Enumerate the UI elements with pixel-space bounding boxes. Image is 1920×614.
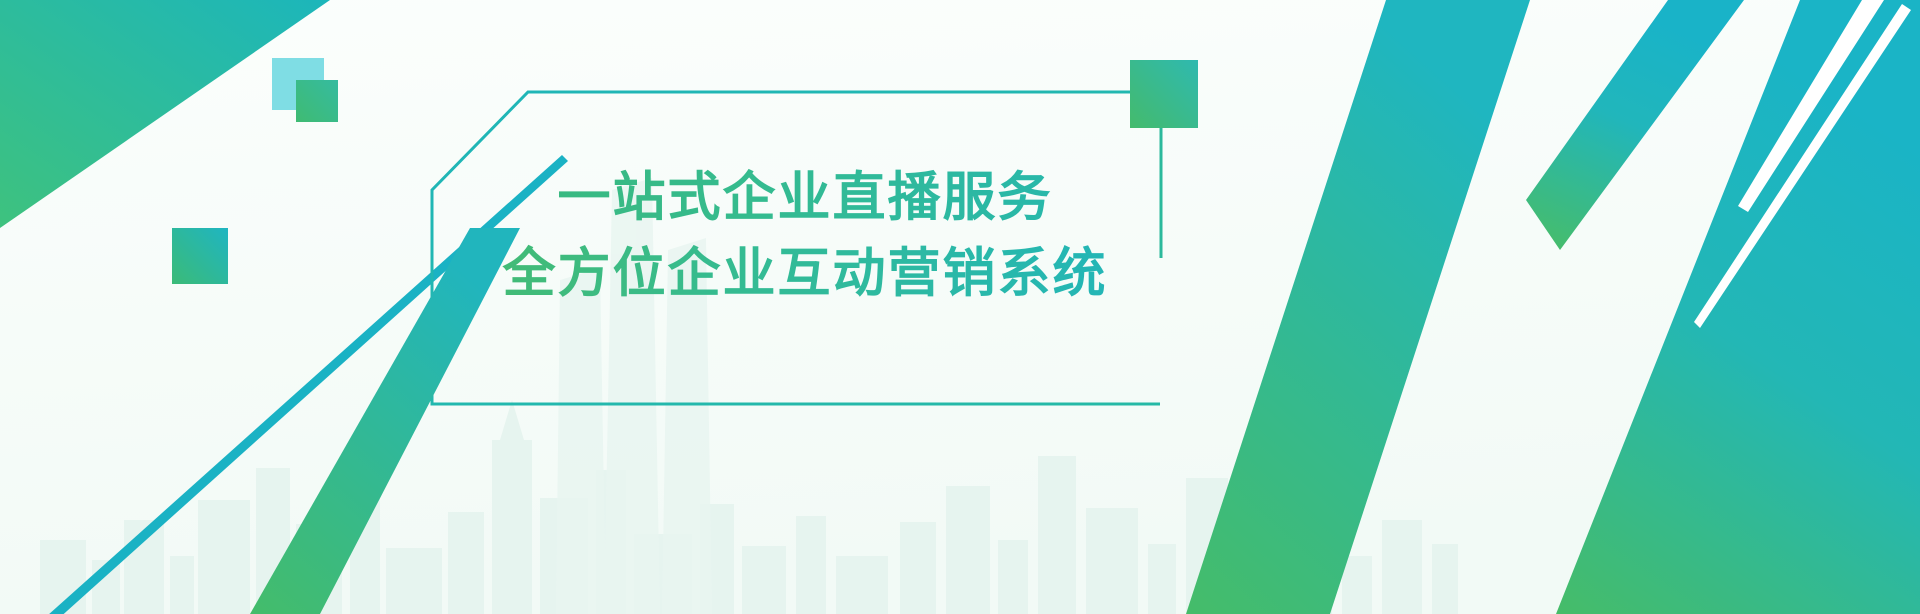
banner-right-edge-artwork <box>0 0 1920 614</box>
hero-banner: 一站式企业直播服务 全方位企业互动营销系统 <box>0 0 1920 614</box>
